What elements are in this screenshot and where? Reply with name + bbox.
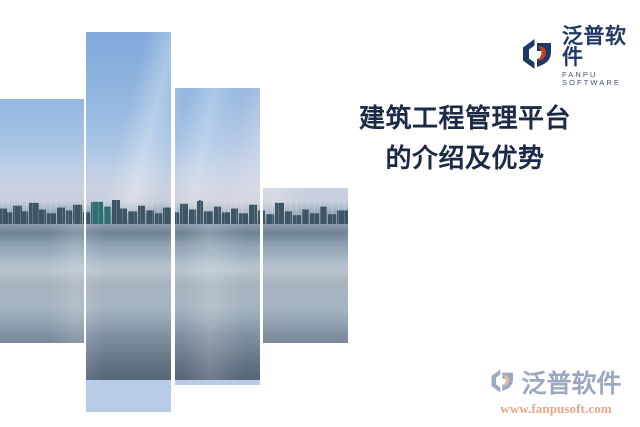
presentation-slide: 泛普软件 FANPU SOFTWARE 建筑工程管理平台 的介绍及优势 泛普软件…: [0, 0, 640, 427]
city-lights: [86, 200, 171, 226]
skyline-photo: [86, 32, 171, 380]
skyline-photo: [263, 188, 348, 343]
city-lights: [0, 200, 84, 226]
watermark-url: www.fanpusoft.com: [500, 401, 611, 417]
page-title-line-2: 的介绍及优势: [306, 140, 624, 180]
brand-logo-text: 泛普软件 FANPU SOFTWARE: [562, 26, 640, 86]
fanpu-watermark-mark-icon: [490, 368, 516, 399]
collage-panel-1: [0, 99, 84, 343]
collage-panel-2: [86, 32, 171, 412]
skyline-photo: [0, 99, 84, 343]
city-lights: [263, 200, 348, 226]
fanpu-watermark: 泛普软件 www.fanpusoft.com: [478, 368, 634, 417]
brand-name-cn: 泛普软件: [562, 26, 640, 68]
fanpu-logo-mark-icon: [521, 37, 555, 76]
collage-panel-4: [263, 188, 348, 343]
page-title: 建筑工程管理平台 的介绍及优势: [306, 100, 624, 179]
brand-name-en: FANPU SOFTWARE: [562, 71, 640, 86]
collage-panel-3: [175, 88, 260, 385]
page-title-line-1: 建筑工程管理平台: [306, 100, 624, 140]
watermark-brand-name: 泛普软件: [521, 371, 621, 396]
brand-logo: 泛普软件 FANPU SOFTWARE: [521, 26, 640, 86]
city-lights: [175, 200, 260, 226]
skyline-photo: [175, 88, 260, 380]
watermark-logo-row: 泛普软件: [490, 368, 621, 399]
